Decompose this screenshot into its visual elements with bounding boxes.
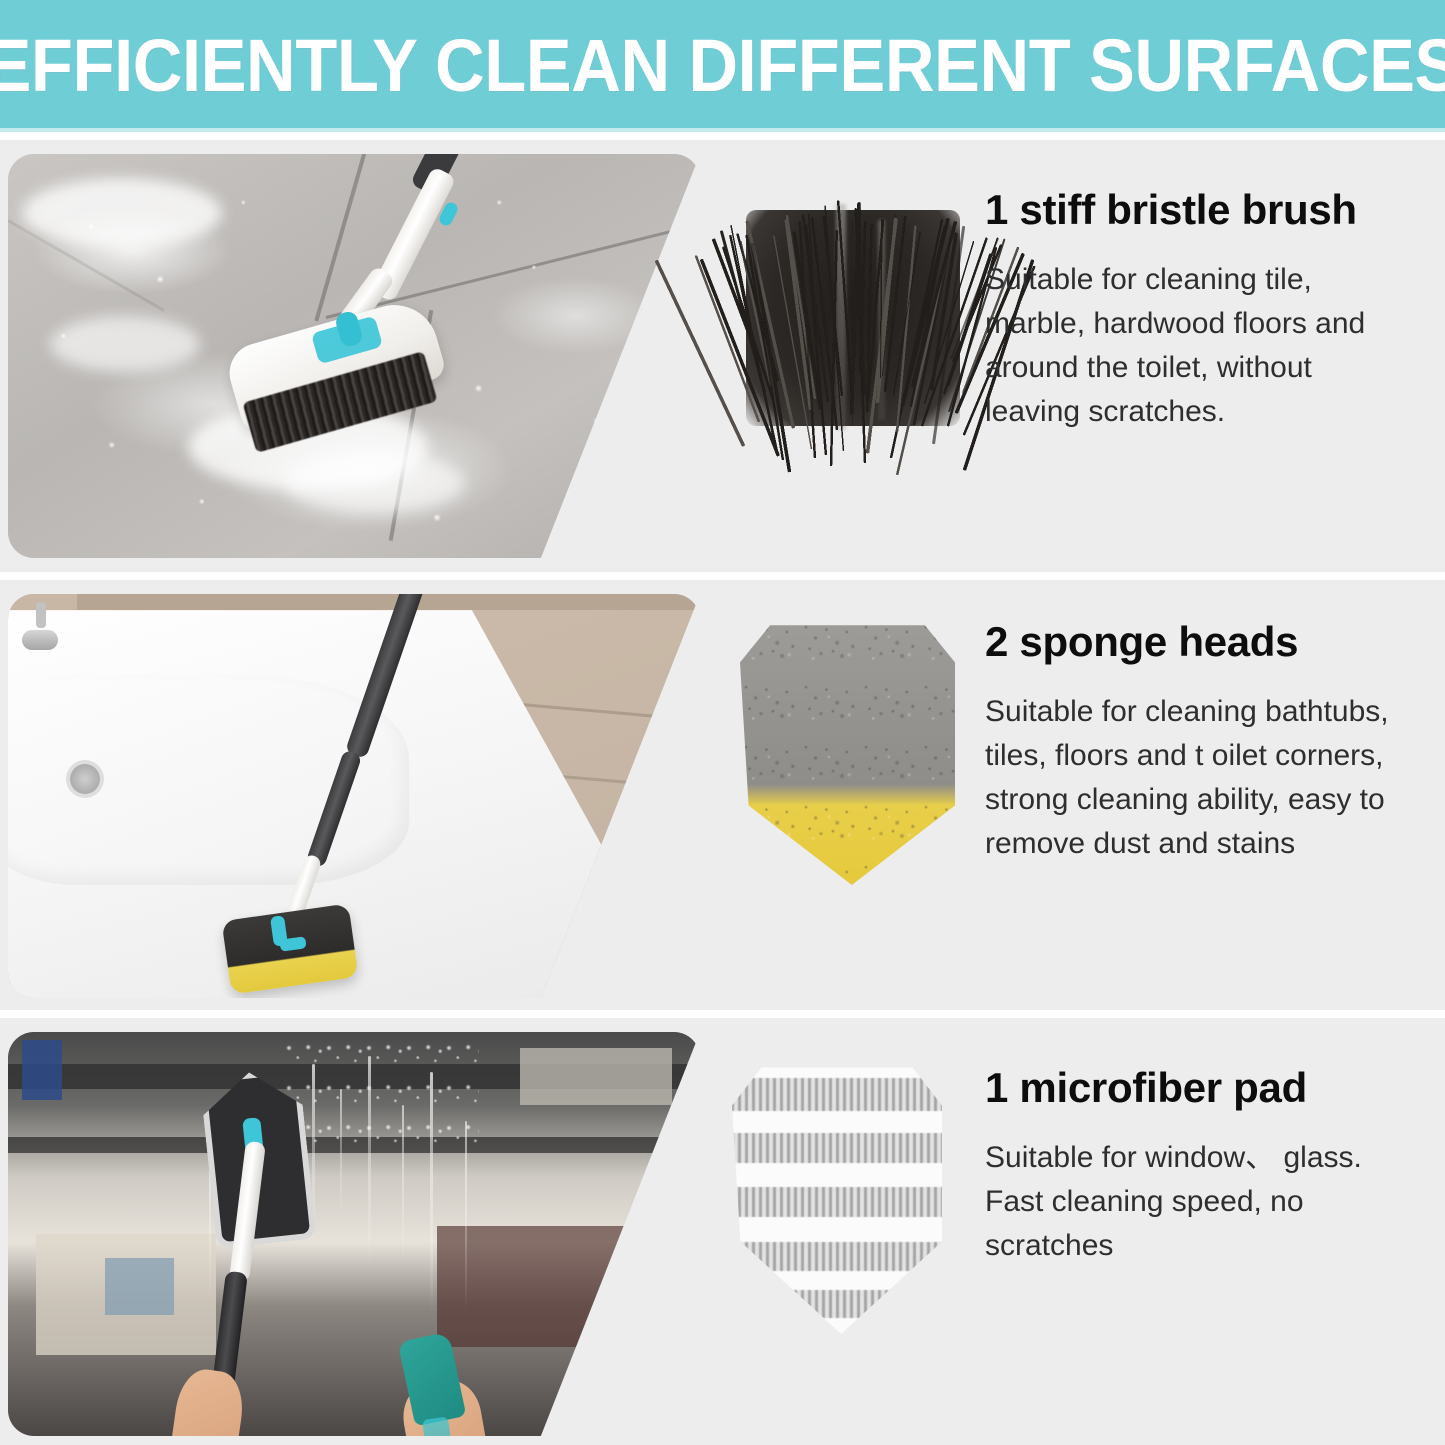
feature-text-sponge-heads: 2 sponge heads Suitable for cleaning bat… (985, 620, 1425, 866)
banner-title: EFFICIENTLY CLEAN DIFFERENT SURFACES (0, 25, 1445, 103)
feature-body: Suitable for cleaning tile, marble, hard… (985, 258, 1415, 434)
water-streak (465, 1121, 467, 1311)
feature-row-sponge-heads: 2 sponge heads Suitable for cleaning bat… (0, 580, 1445, 1010)
feature-heading: 1 microfiber pad (985, 1066, 1425, 1110)
divider-row1-row2 (0, 572, 1445, 580)
bristle-cluster (728, 180, 978, 480)
scene-photo-window (8, 1032, 700, 1436)
pad-stripe (724, 1187, 951, 1217)
pad-stripe (724, 1133, 951, 1163)
feature-text-microfiber-pad: 1 microfiber pad Suitable for window、 gl… (985, 1066, 1425, 1268)
sponge-texture (740, 620, 955, 885)
product-image-microfiber-pad (690, 1048, 990, 1378)
scene-photo-tile-floor (8, 154, 700, 558)
wall-shadow (8, 594, 700, 610)
product-image-stiff-bristle-brush (700, 170, 1000, 500)
header-banner: EFFICIENTLY CLEAN DIFFERENT SURFACES (0, 0, 1445, 128)
scene-photo-bathtub (8, 594, 700, 998)
feature-row-microfiber-pad: 1 microfiber pad Suitable for window、 gl… (0, 1018, 1445, 1445)
microfiber-pad-shape (732, 1062, 942, 1334)
feature-text-bristle-brush: 1 stiff bristle brush Suitable for clean… (985, 188, 1425, 434)
feature-heading: 2 sponge heads (985, 620, 1425, 664)
feature-heading: 1 stiff bristle brush (985, 188, 1425, 232)
sponge-head-shape (740, 620, 955, 885)
divider-top (0, 132, 1445, 140)
feature-row-bristle-brush: 1 stiff bristle brush Suitable for clean… (0, 140, 1445, 572)
feature-body: Suitable for cleaning bathtubs, tiles, f… (985, 690, 1415, 866)
pad-stripe (724, 1078, 951, 1111)
divider-row2-row3 (0, 1010, 1445, 1018)
tub-drain (70, 764, 100, 794)
product-image-sponge-head (700, 602, 1000, 932)
reflection-window-pane (105, 1258, 174, 1315)
pad-stripe (724, 1290, 951, 1317)
tub-spout (36, 602, 46, 628)
infographic-page: EFFICIENTLY CLEAN DIFFERENT SURFACES (0, 0, 1445, 1445)
tub-faucet (22, 630, 58, 650)
reflection-frame (520, 1048, 672, 1105)
pad-stripe (724, 1242, 951, 1272)
reflection-blue-sign (22, 1040, 62, 1100)
water-droplets (285, 1040, 479, 1145)
feature-body: Suitable for window、 glass. Fast cleanin… (985, 1136, 1415, 1268)
